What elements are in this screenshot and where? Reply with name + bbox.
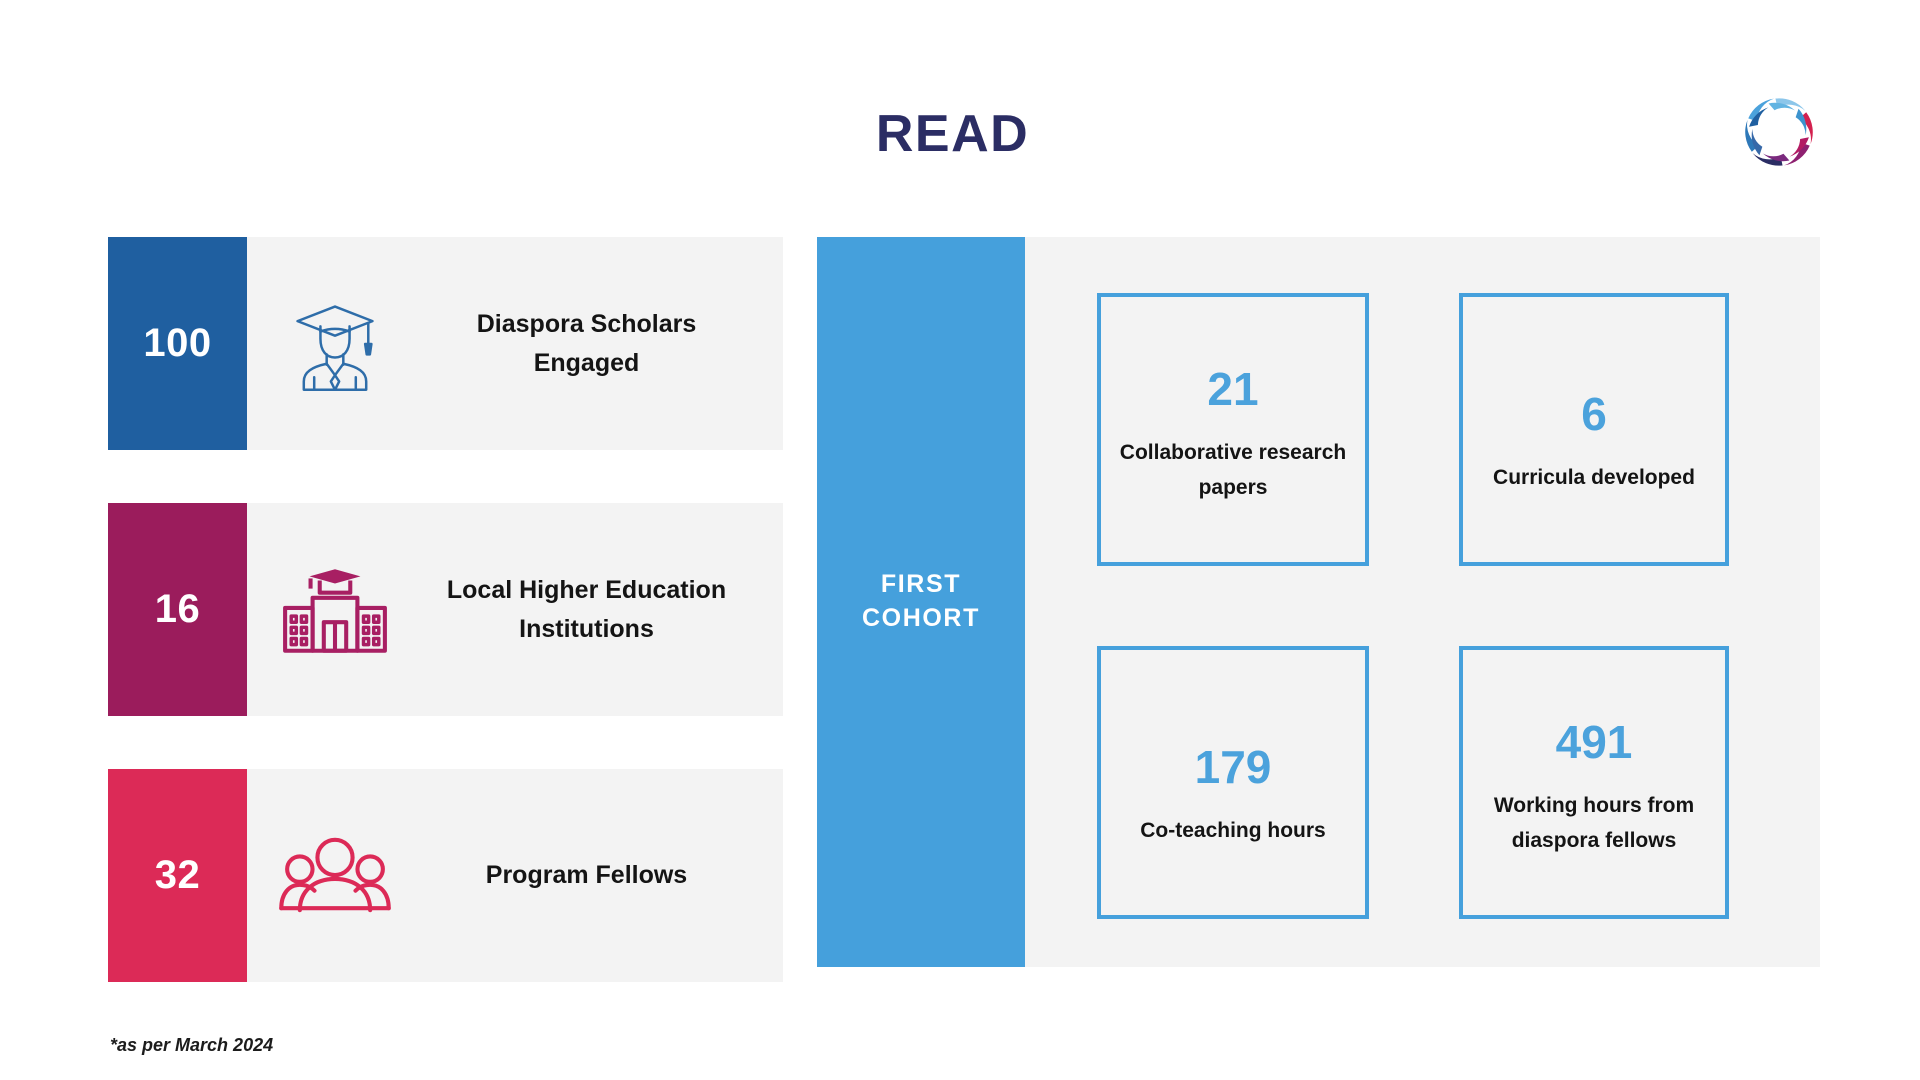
metric-label: Curricula developed xyxy=(1477,461,1711,495)
stat-body: Diaspora Scholars Engaged xyxy=(247,237,783,450)
metric-value: 179 xyxy=(1115,744,1351,790)
page-title: READ xyxy=(0,104,1920,164)
cohort-heading-block: FIRST COHORT xyxy=(817,237,1025,967)
slide-root: READ xyxy=(0,0,1920,1080)
stat-body: Program Fellows xyxy=(247,769,783,982)
metric-box-collaborative-research-papers: 21 Collaborative research papers xyxy=(1097,293,1369,566)
left-stats-column: 100 Diaspora Sc xyxy=(108,237,783,982)
footnote: *as per March 2024 xyxy=(110,1035,273,1056)
stat-card-diaspora-scholars: 100 Diaspora Sc xyxy=(108,237,783,450)
metric-label: Collaborative research papers xyxy=(1115,436,1351,504)
stat-value-block: 16 xyxy=(108,503,247,716)
stat-body: Local Higher Education Institutions xyxy=(247,503,783,716)
stat-label: Diaspora Scholars Engaged xyxy=(422,305,783,383)
first-cohort-panel: FIRST COHORT 21 Collaborative research p… xyxy=(817,237,1820,967)
metric-box-curricula-developed: 6 Curricula developed xyxy=(1459,293,1729,566)
metric-value: 6 xyxy=(1477,391,1711,437)
cohort-heading-line2: COHORT xyxy=(862,602,980,636)
university-building-icon xyxy=(247,559,422,661)
stat-value-block: 100 xyxy=(108,237,247,450)
metric-value: 491 xyxy=(1477,719,1711,765)
metric-label: Co-teaching hours xyxy=(1115,814,1351,848)
metric-value: 21 xyxy=(1115,366,1351,412)
stat-card-local-institutions: 16 xyxy=(108,503,783,716)
metrics-grid: 21 Collaborative research papers 6 Curri… xyxy=(1025,237,1820,967)
stat-label: Program Fellows xyxy=(422,856,783,895)
cohort-heading-line1: FIRST xyxy=(862,568,980,602)
metric-label: Working hours from diaspora fellows xyxy=(1477,789,1711,857)
page-title-text: READ xyxy=(876,104,1029,164)
stat-value-block: 32 xyxy=(108,769,247,982)
people-group-icon xyxy=(247,834,422,918)
metric-box-co-teaching-hours: 179 Co-teaching hours xyxy=(1097,646,1369,919)
circular-swirl-logo xyxy=(1735,88,1823,176)
stat-card-program-fellows: 32 Program Fellows xyxy=(108,769,783,982)
graduate-scholar-icon xyxy=(247,292,422,396)
stat-label: Local Higher Education Institutions xyxy=(422,571,783,649)
metric-box-working-hours-diaspora-fellows: 491 Working hours from diaspora fellows xyxy=(1459,646,1729,919)
